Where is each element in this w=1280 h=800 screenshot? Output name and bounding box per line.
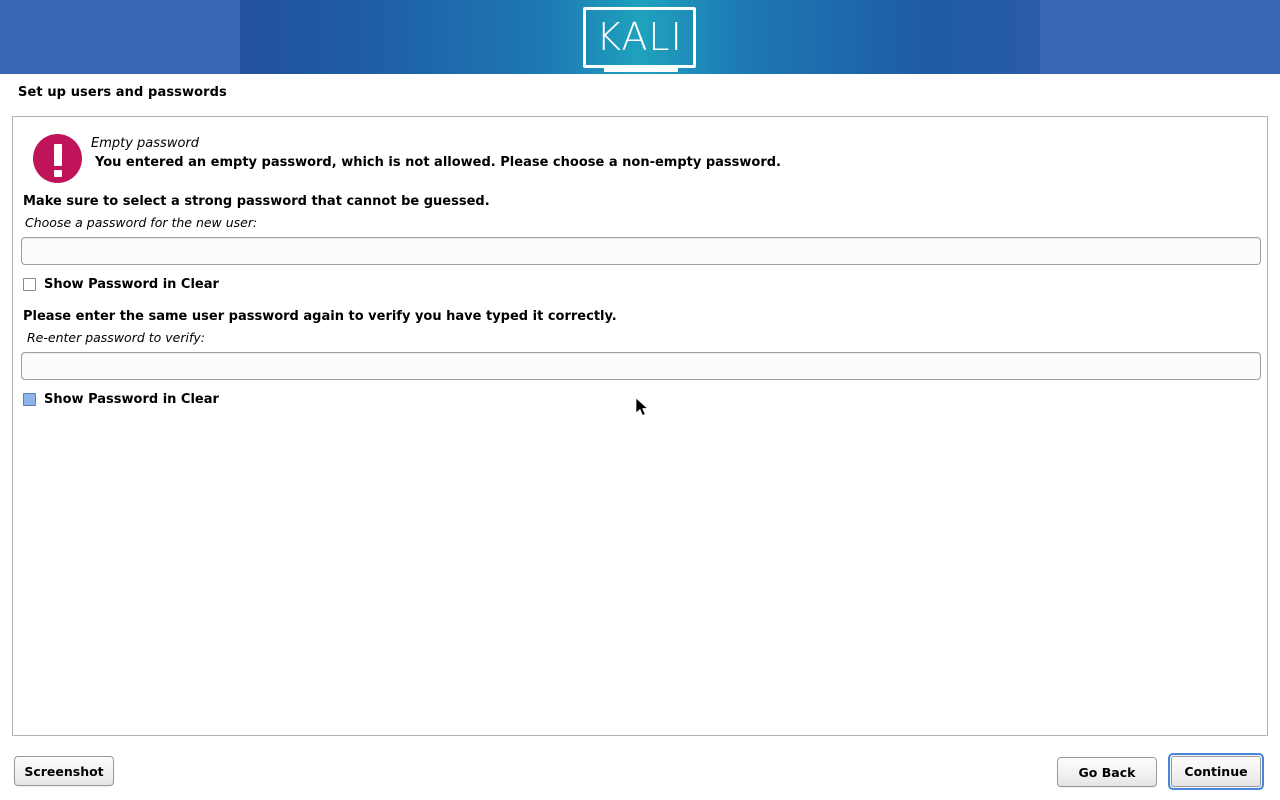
show-password-clear-checkbox-1[interactable] <box>23 278 36 291</box>
show-password-clear-label-1: Show Password in Clear <box>44 277 219 292</box>
continue-button[interactable]: Continue <box>1171 756 1261 787</box>
kali-logo: KALI <box>583 7 696 68</box>
page-title: Set up users and passwords <box>18 85 227 100</box>
verify-password-input[interactable] <box>21 352 1261 380</box>
screenshot-button[interactable]: Screenshot <box>14 756 114 786</box>
go-back-button[interactable]: Go Back <box>1057 757 1157 787</box>
verify-password-hint: Please enter the same user password agai… <box>23 309 617 324</box>
error-title: Empty password <box>91 136 199 151</box>
verify-field-label: Re-enter password to verify: <box>27 330 205 345</box>
installer-content-panel: Empty password You entered an empty pass… <box>12 116 1268 736</box>
password-strength-hint: Make sure to select a strong password th… <box>23 194 490 209</box>
exclamation-dot <box>54 170 62 177</box>
password-field-label: Choose a password for the new user: <box>25 215 257 230</box>
kali-logo-underline <box>604 68 678 72</box>
show-password-clear-row-2[interactable]: Show Password in Clear <box>23 392 219 407</box>
error-message-block: Empty password You entered an empty pass… <box>22 126 1252 190</box>
error-exclamation-icon <box>33 134 82 183</box>
show-password-clear-row-1[interactable]: Show Password in Clear <box>23 277 219 292</box>
exclamation-bar <box>54 144 62 166</box>
show-password-clear-checkbox-2[interactable] <box>23 393 36 406</box>
kali-logo-text: KALI <box>583 7 696 68</box>
error-description: You entered an empty password, which is … <box>95 155 781 170</box>
password-input[interactable] <box>21 237 1261 265</box>
kali-banner: KALI <box>0 0 1280 74</box>
show-password-clear-label-2: Show Password in Clear <box>44 392 219 407</box>
